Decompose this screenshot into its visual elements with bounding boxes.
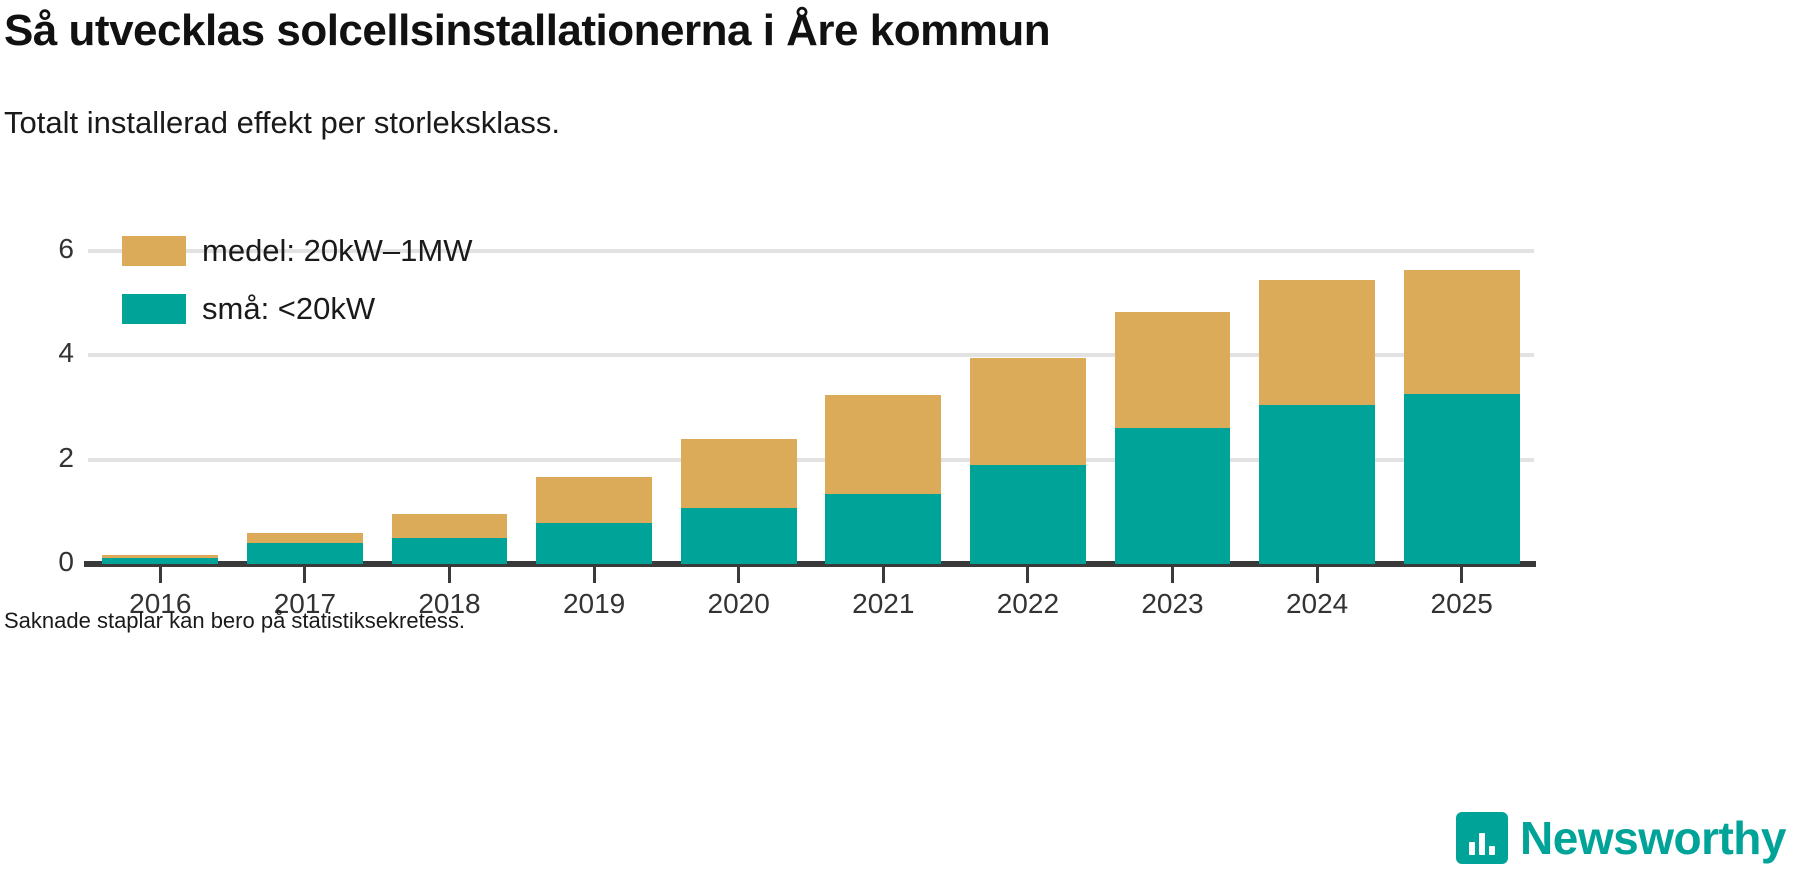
bar-segment — [1404, 270, 1520, 395]
x-axis-tick — [1026, 567, 1029, 583]
bar-segment — [392, 538, 508, 564]
bar-2025[interactable] — [1404, 0, 1520, 564]
y-axis-tick-label: 0 — [18, 546, 74, 578]
bar-segment — [1259, 405, 1375, 564]
bar-segment — [536, 523, 652, 564]
chart-page: Så utvecklas solcellsinstallationerna i … — [0, 0, 1800, 879]
bar-segment — [102, 558, 218, 564]
bar-segment — [970, 465, 1086, 564]
bar-2021[interactable] — [825, 0, 941, 564]
x-axis-tick — [303, 567, 306, 583]
x-axis-tick-label: 2022 — [956, 588, 1101, 620]
bar-segment — [247, 543, 363, 564]
legend-swatch-medel — [122, 236, 186, 266]
bar-segment — [536, 477, 652, 523]
bar-segment — [970, 358, 1086, 465]
bar-segment — [681, 439, 797, 508]
bar-2019[interactable] — [536, 0, 652, 564]
legend-label-medel: medel: 20kW–1MW — [202, 233, 472, 269]
y-axis-tick-label: 2 — [18, 442, 74, 474]
bar-segment — [681, 508, 797, 564]
bar-2020[interactable] — [681, 0, 797, 564]
bar-2022[interactable] — [970, 0, 1086, 564]
x-axis-tick — [593, 567, 596, 583]
legend-label-sma: små: <20kW — [202, 291, 375, 327]
bar-segment — [1259, 280, 1375, 405]
y-axis-tick-label: 4 — [18, 337, 74, 369]
bar-segment — [825, 494, 941, 564]
bar-chart: 0246201620172018201920202021202220232024… — [0, 0, 1800, 879]
x-axis-tick-label: 2019 — [522, 588, 667, 620]
bar-segment — [247, 533, 363, 543]
bar-2023[interactable] — [1115, 0, 1231, 564]
chart-legend: medel: 20kW–1MW små: <20kW — [122, 228, 472, 344]
x-axis-tick-label: 2020 — [666, 588, 811, 620]
x-axis-tick — [1460, 567, 1463, 583]
x-axis-tick-label: 2023 — [1100, 588, 1245, 620]
legend-item-medel[interactable]: medel: 20kW–1MW — [122, 228, 472, 274]
legend-item-sma[interactable]: små: <20kW — [122, 286, 472, 332]
x-axis-tick — [1171, 567, 1174, 583]
bar-segment — [102, 555, 218, 558]
bar-segment — [1115, 428, 1231, 564]
x-axis-tick-label: 2021 — [811, 588, 956, 620]
brand-name: Newsworthy — [1520, 811, 1786, 865]
brand-logo[interactable]: Newsworthy — [1456, 811, 1786, 865]
bar-segment — [1404, 394, 1520, 564]
x-axis-tick — [737, 567, 740, 583]
x-axis-tick-label: 2025 — [1389, 588, 1534, 620]
x-axis-tick — [1316, 567, 1319, 583]
bar-segment — [1115, 312, 1231, 428]
x-axis-tick-label: 2024 — [1245, 588, 1390, 620]
x-axis-tick — [448, 567, 451, 583]
chart-footnote: Saknade staplar kan bero på statistiksek… — [4, 608, 465, 634]
bar-segment — [392, 514, 508, 537]
legend-swatch-sma — [122, 294, 186, 324]
bar-2024[interactable] — [1259, 0, 1375, 564]
x-axis-tick — [159, 567, 162, 583]
x-axis-tick — [882, 567, 885, 583]
y-axis-tick-label: 6 — [18, 233, 74, 265]
bar-chart-icon — [1456, 812, 1508, 864]
bar-segment — [825, 395, 941, 494]
